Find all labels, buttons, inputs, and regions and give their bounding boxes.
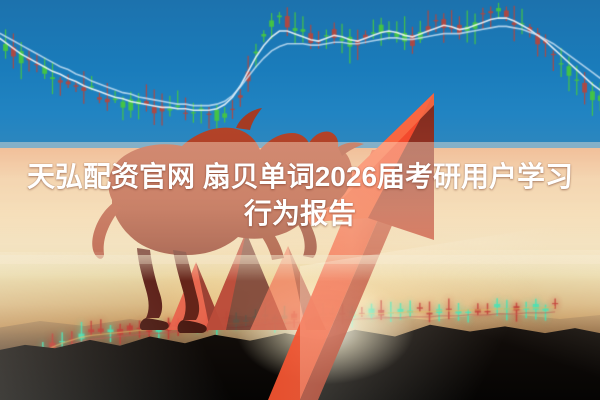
sunset-background [0,148,600,400]
banner-image: 天弘配资官网 扇贝单词2026届考研用户学习行为报告 [0,0,600,400]
sky-top-background [0,0,600,152]
